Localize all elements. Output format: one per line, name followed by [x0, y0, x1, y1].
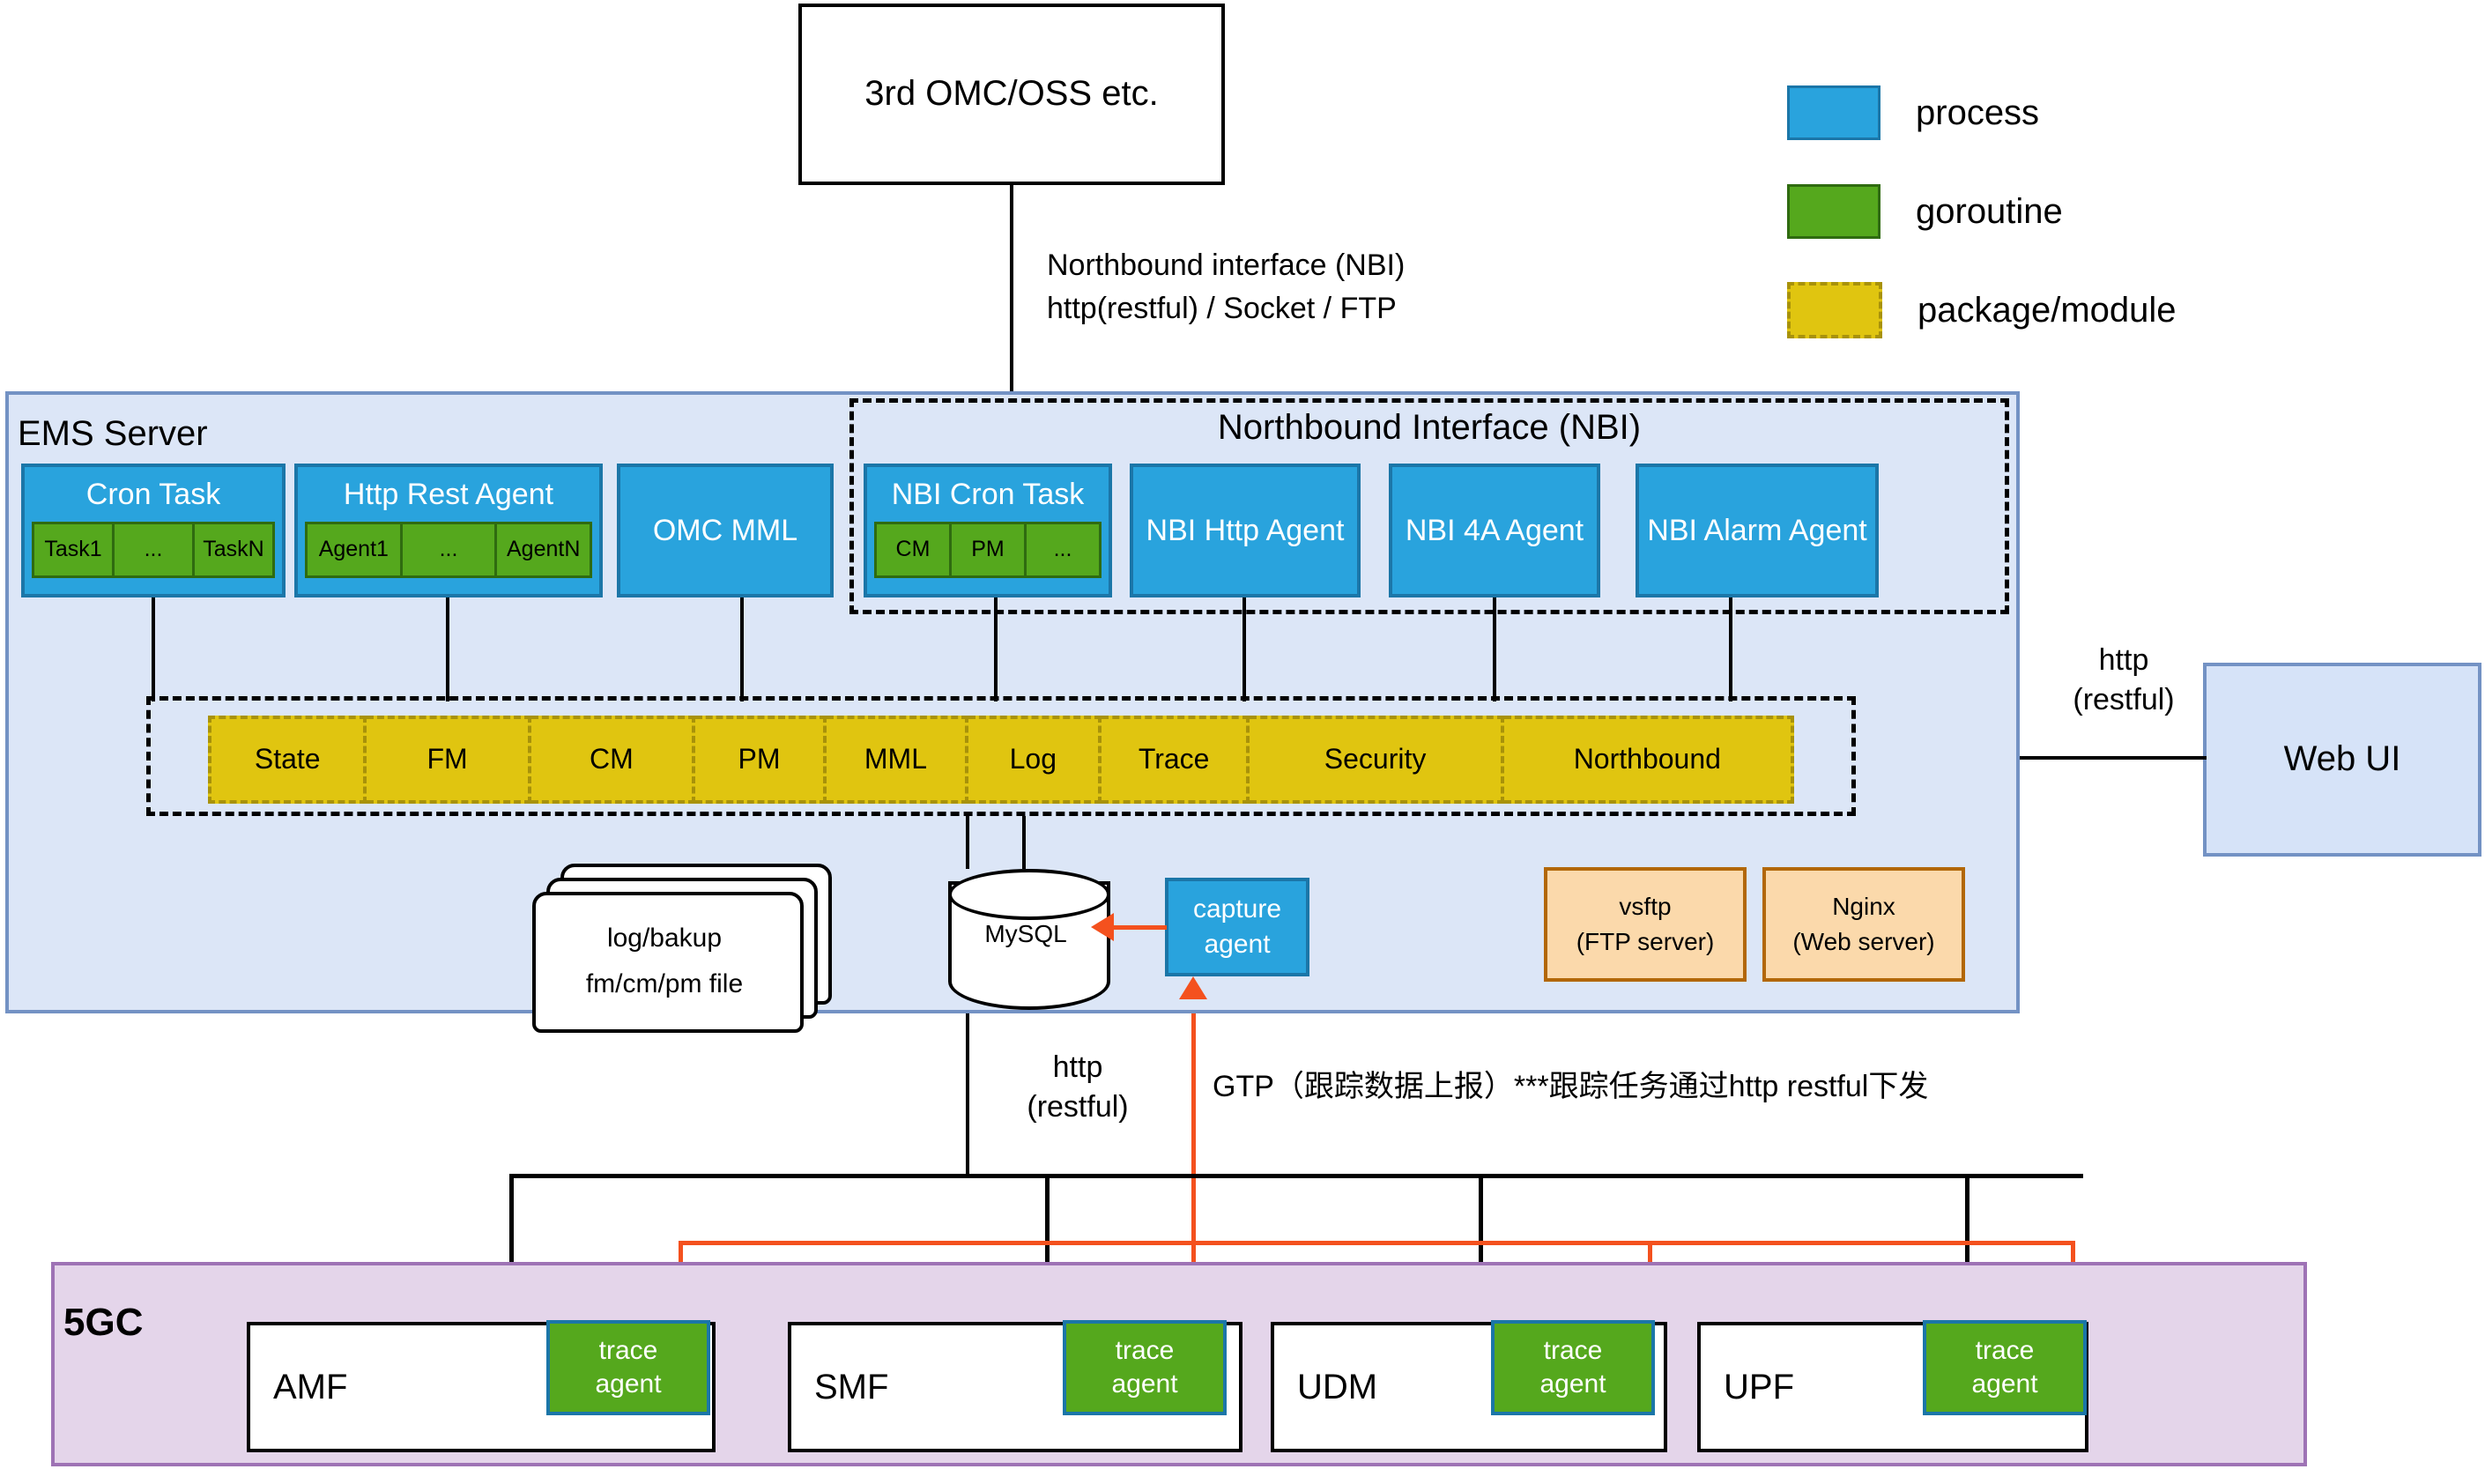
- goroutine-agent-ellipsis[interactable]: ...: [403, 522, 498, 578]
- gtp-annotation-label: GTP（跟踪数据上报）***跟踪任务通过http restful下发: [1213, 1062, 2182, 1105]
- log-backup-files-line1: log/bakup: [607, 924, 722, 953]
- trace-agent-udm-line2: agent: [1539, 1369, 1606, 1399]
- server-nginx-line2: (Web server): [1792, 928, 1934, 956]
- process-nbi-4a-agent-title: NBI 4A Agent: [1406, 513, 1584, 548]
- southbound-http-label-line2: (restful): [994, 1090, 1161, 1124]
- connector-omc-mml: [740, 597, 744, 701]
- trace-agent-upf-line1: trace: [1976, 1336, 2035, 1366]
- trace-agent-amf-line2: agent: [595, 1369, 661, 1399]
- process-nbi-4a-agent[interactable]: NBI 4A Agent: [1389, 464, 1600, 597]
- module-bar: State FM CM PM MML Log Trace Security No…: [208, 716, 1794, 797]
- nbi-group-title: Northbound Interface (NBI): [849, 407, 2009, 449]
- nbi-connector-line: [1010, 185, 1013, 395]
- connector-nbi-4a-agent: [1493, 597, 1496, 701]
- legend-label-process: process: [1916, 93, 2039, 133]
- module-state[interactable]: State: [208, 716, 367, 804]
- process-nbi-cron-task[interactable]: NBI Cron Task CM PM ...: [864, 464, 1112, 597]
- goroutine-agent1[interactable]: Agent1: [305, 522, 403, 578]
- goroutine-pm[interactable]: PM: [952, 522, 1027, 578]
- goroutine-taskn[interactable]: TaskN: [195, 522, 275, 578]
- process-http-rest-agent-title: Http Rest Agent: [298, 467, 599, 522]
- module-log[interactable]: Log: [968, 716, 1102, 804]
- server-nginx[interactable]: Nginx (Web server): [1762, 867, 1965, 982]
- goroutine-cm[interactable]: CM: [874, 522, 952, 578]
- trace-agent-smf-line2: agent: [1111, 1369, 1177, 1399]
- trace-agent-amf[interactable]: trace agent: [546, 1320, 710, 1415]
- module-cm[interactable]: CM: [531, 716, 695, 804]
- connector-http-rest-agent: [446, 597, 449, 701]
- nf-udm-label: UDM: [1297, 1368, 1377, 1407]
- module-northbound[interactable]: Northbound: [1504, 716, 1794, 804]
- trace-agent-smf[interactable]: trace agent: [1063, 1320, 1227, 1415]
- legend-item-process: process: [1787, 88, 2281, 137]
- third-party-omc-oss-label: 3rd OMC/OSS etc.: [864, 73, 1158, 115]
- process-capture-agent-line1: capture: [1193, 894, 1281, 924]
- southbound-http-label-line1: http: [994, 1050, 1161, 1085]
- nbi-link-label-line2: http(restful) / Socket / FTP: [1047, 292, 1664, 326]
- package-module-swatch: [1787, 282, 1882, 338]
- nbi-link-label: Northbound interface (NBI) http(restful)…: [1047, 249, 1664, 326]
- legend-item-package-module: package/module: [1787, 286, 2281, 335]
- third-party-omc-oss-box: 3rd OMC/OSS etc.: [798, 4, 1225, 185]
- module-security[interactable]: Security: [1250, 716, 1503, 804]
- ems-server-title: EMS Server: [18, 414, 208, 454]
- nf-amf-label: AMF: [273, 1368, 347, 1407]
- goroutine-nbi-ellipsis[interactable]: ...: [1027, 522, 1102, 578]
- log-backup-files-label: log/bakup fm/cm/pm file: [532, 901, 797, 1022]
- module-fm[interactable]: FM: [367, 716, 530, 804]
- connector-cron-task: [152, 597, 155, 701]
- web-ui-link-label: http (restful): [2044, 643, 2203, 717]
- trace-agent-smf-line1: trace: [1116, 1336, 1175, 1366]
- server-vsftp-line2: (FTP server): [1576, 928, 1715, 956]
- process-http-rest-agent[interactable]: Http Rest Agent Agent1 ... AgentN: [294, 464, 603, 597]
- web-ui-link-label-line2: (restful): [2044, 683, 2203, 717]
- goroutine-swatch: [1787, 184, 1880, 239]
- module-pm[interactable]: PM: [695, 716, 827, 804]
- module-mml[interactable]: MML: [827, 716, 968, 804]
- trace-agent-bus-line: [679, 1241, 2074, 1245]
- connector-module-to-mysql: [1022, 816, 1026, 869]
- mysql-database-top: [948, 869, 1110, 920]
- process-nbi-http-agent[interactable]: NBI Http Agent: [1130, 464, 1361, 597]
- process-nbi-alarm-agent-title: NBI Alarm Agent: [1647, 513, 1866, 548]
- server-nginx-line1: Nginx: [1832, 893, 1895, 921]
- goroutine-task1[interactable]: Task1: [32, 522, 115, 578]
- trace-agent-upf-line2: agent: [1971, 1369, 2037, 1399]
- process-nbi-alarm-agent[interactable]: NBI Alarm Agent: [1636, 464, 1879, 597]
- module-trace[interactable]: Trace: [1102, 716, 1250, 804]
- goroutine-task-ellipsis[interactable]: ...: [115, 522, 195, 578]
- connector-nbi-http-agent: [1242, 597, 1246, 701]
- log-backup-files-line2: fm/cm/pm file: [586, 969, 743, 999]
- connector-module-to-files: [966, 816, 969, 869]
- trace-agent-upf[interactable]: trace agent: [1923, 1320, 2087, 1415]
- capture-agent-to-mysql-arrowhead: [1091, 913, 1114, 941]
- web-ui-box[interactable]: Web UI: [2203, 663, 2481, 857]
- 5gc-title: 5GC: [63, 1301, 143, 1345]
- goroutine-agentn[interactable]: AgentN: [497, 522, 592, 578]
- process-cron-task-title: Cron Task: [25, 467, 282, 522]
- process-nbi-cron-task-title: NBI Cron Task: [867, 467, 1109, 522]
- process-omc-mml[interactable]: OMC MML: [617, 464, 834, 597]
- process-swatch: [1787, 85, 1880, 140]
- capture-agent-to-mysql-line: [1112, 925, 1167, 930]
- web-ui-link-label-line1: http: [2044, 643, 2203, 678]
- process-cron-task[interactable]: Cron Task Task1 ... TaskN: [21, 464, 286, 597]
- web-ui-connector-line: [2020, 756, 2207, 760]
- legend-item-goroutine: goroutine: [1787, 187, 2281, 236]
- nf-smf-label: SMF: [814, 1368, 888, 1407]
- process-capture-agent-line2: agent: [1204, 930, 1270, 960]
- process-nbi-http-agent-title: NBI Http Agent: [1146, 513, 1345, 548]
- web-ui-label: Web UI: [2284, 738, 2401, 780]
- server-vsftp[interactable]: vsftp (FTP server): [1544, 867, 1747, 982]
- process-capture-agent[interactable]: capture agent: [1165, 878, 1309, 976]
- southbound-bus-line: [509, 1174, 2083, 1178]
- nf-upf-label: UPF: [1724, 1368, 1794, 1407]
- trace-agent-udm-line1: trace: [1544, 1336, 1603, 1366]
- connector-nbi-alarm-agent: [1729, 597, 1732, 701]
- gtp-riser-arrowhead: [1179, 976, 1207, 999]
- legend: process goroutine package/module: [1787, 88, 2281, 335]
- process-omc-mml-title: OMC MML: [653, 513, 797, 548]
- southbound-http-label: http (restful): [994, 1050, 1161, 1124]
- legend-label-package-module: package/module: [1918, 291, 2177, 330]
- architecture-diagram: 3rd OMC/OSS etc. Northbound interface (N…: [0, 0, 2485, 1484]
- mysql-database-label: MySQL: [948, 916, 1103, 952]
- southbound-http-trunk: [966, 1013, 969, 1177]
- connector-nbi-cron-task: [994, 597, 998, 701]
- nbi-link-label-line1: Northbound interface (NBI): [1047, 249, 1664, 283]
- legend-label-goroutine: goroutine: [1916, 192, 2063, 232]
- trace-agent-udm[interactable]: trace agent: [1491, 1320, 1655, 1415]
- trace-agent-amf-line1: trace: [599, 1336, 658, 1366]
- server-vsftp-line1: vsftp: [1619, 893, 1671, 921]
